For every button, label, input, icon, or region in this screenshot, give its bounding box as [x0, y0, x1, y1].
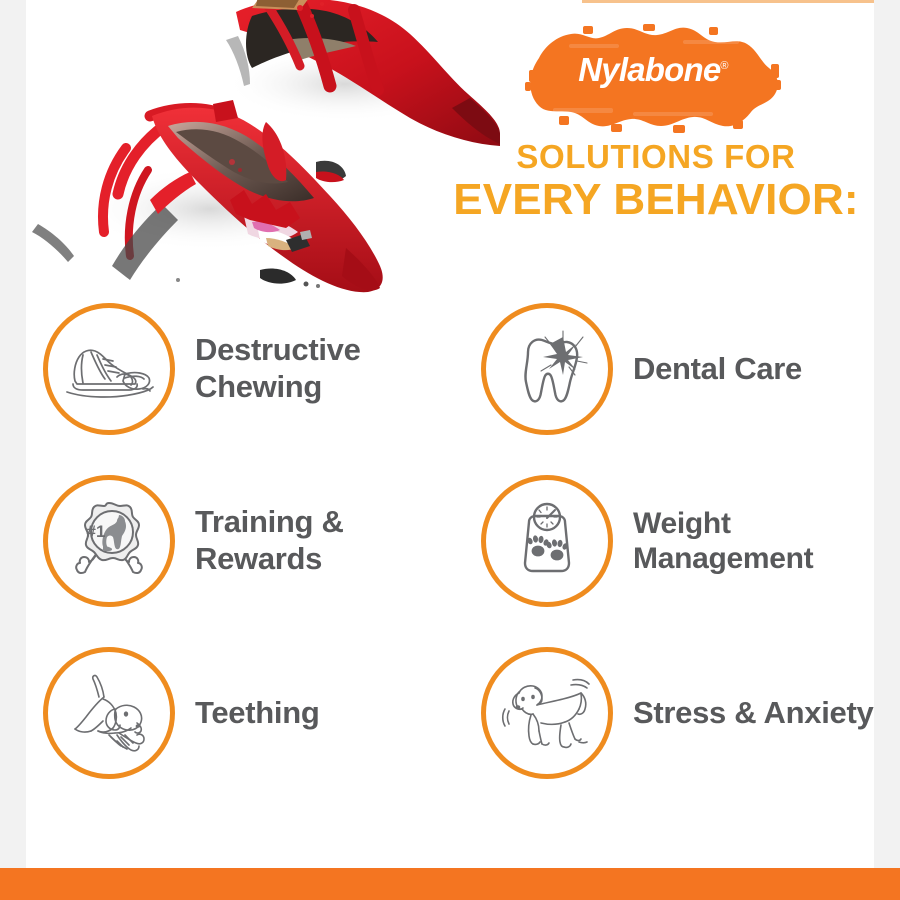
bathroom-scale-paws-icon — [497, 491, 597, 591]
top-rule — [582, 0, 874, 3]
benefit-item-weight-management[interactable]: Weight Management — [481, 470, 874, 612]
trembling-dog-icon — [497, 663, 597, 763]
benefit-item-dental-care[interactable]: Dental Care — [481, 298, 874, 440]
benefit-label: Training & Rewards — [195, 504, 463, 577]
benefit-icon-badge: #1 — [43, 475, 175, 607]
nylabone-logo: Nylabone® — [523, 24, 783, 134]
award-rosette-dog-icon: #1 — [59, 491, 159, 591]
puppy-chewing-toy-icon — [59, 663, 159, 763]
benefit-label: Stress & Anxiety — [633, 695, 873, 732]
headline-line-2: EVERY BEHAVIOR: — [406, 175, 874, 224]
benefits-grid: Destructive Chewing — [43, 298, 874, 818]
benefit-label: Teething — [195, 695, 319, 732]
benefit-icon-badge — [43, 647, 175, 779]
poster-canvas: Nylabone® SOLUTIONS FOR EVERY BEHAVIOR: — [26, 0, 874, 868]
headline-block: SOLUTIONS FOR EVERY BEHAVIOR: — [406, 140, 874, 224]
registered-trademark-mark: ® — [720, 60, 727, 72]
benefit-icon-badge — [481, 303, 613, 435]
benefit-icon-badge — [481, 475, 613, 607]
headline-line-1: SOLUTIONS FOR — [406, 140, 874, 175]
benefit-label: Weight Management — [633, 506, 874, 577]
benefit-icon-badge — [43, 303, 175, 435]
sparkling-tooth-icon — [497, 319, 597, 419]
footer-orange-bar — [0, 868, 900, 900]
benefit-item-destructive-chewing[interactable]: Destructive Chewing — [43, 298, 463, 440]
benefit-icon-badge — [481, 647, 613, 779]
benefit-label: Destructive Chewing — [195, 332, 463, 405]
benefit-item-stress-anxiety[interactable]: Stress & Anxiety — [481, 642, 874, 784]
logo-wordmark: Nylabone® — [523, 51, 783, 89]
benefit-item-training-rewards[interactable]: #1 Training & Rewards — [43, 470, 463, 612]
benefit-label: Dental Care — [633, 351, 802, 388]
poster: Nylabone® SOLUTIONS FOR EVERY BEHAVIOR: — [0, 0, 900, 900]
award-number-text: #1 — [87, 522, 106, 541]
chewed-shoe-icon — [59, 319, 159, 419]
benefit-item-teething[interactable]: Teething — [43, 642, 463, 784]
logo-wordmark-text: Nylabone — [578, 51, 720, 88]
